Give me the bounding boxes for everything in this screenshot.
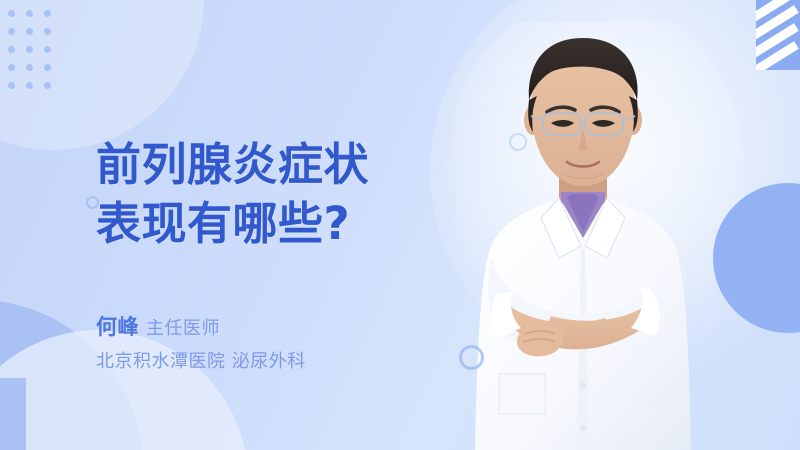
dot [26, 64, 33, 71]
decor-dot-grid [8, 10, 62, 100]
decor-strip-left-edge [0, 378, 26, 450]
doctor-name: 何峰 [96, 315, 139, 339]
dot [8, 46, 15, 53]
dot [26, 10, 33, 17]
dot [44, 64, 51, 71]
dot [44, 46, 51, 53]
decor-stripe-block [756, 0, 800, 70]
dot [26, 28, 33, 35]
doctor-hospital: 北京积水潭医院 泌尿外科 [96, 346, 476, 378]
dot [8, 82, 15, 89]
dot [8, 64, 15, 71]
decor-ring-small-center [509, 133, 527, 151]
title-line-2: 表现有哪些? [96, 195, 476, 254]
page-title: 前列腺炎症状 表现有哪些? [96, 136, 476, 253]
title-line-1: 前列腺炎症状 [96, 136, 476, 195]
text-content: 前列腺炎症状 表现有哪些? 何峰主任医师 北京积水潭医院 泌尿外科 [96, 136, 476, 377]
video-thumbnail-card: 前列腺炎症状 表现有哪些? 何峰主任医师 北京积水潭医院 泌尿外科 [0, 0, 800, 450]
byline: 何峰主任医师 北京积水潭医院 泌尿外科 [96, 309, 476, 377]
dot [44, 28, 51, 35]
doctor-portrait [455, 22, 755, 450]
dot [44, 82, 51, 89]
dot [8, 28, 15, 35]
dot [8, 10, 15, 17]
dot [44, 10, 51, 17]
dot [26, 46, 33, 53]
dot [26, 82, 33, 89]
doctor-title: 主任医师 [146, 318, 220, 339]
